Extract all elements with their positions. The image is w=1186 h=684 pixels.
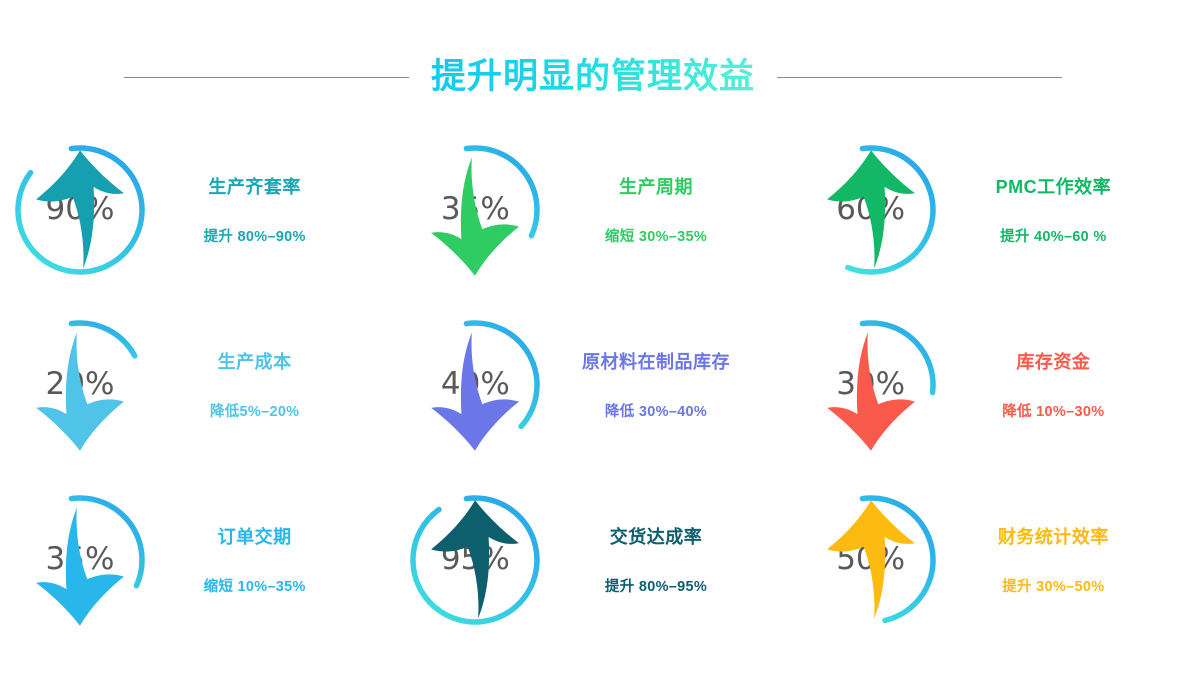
gauge-wrapper: 35%	[0, 492, 160, 628]
metric-label: 生产周期	[619, 173, 693, 199]
title-rule-right	[777, 77, 1062, 78]
gauge-center: 35%	[407, 142, 543, 278]
metric-card: 90%生产齐套率提升 80%–90%	[0, 122, 395, 297]
progress-ring: 95%	[407, 492, 543, 628]
metric-label: 交货达成率	[610, 523, 703, 549]
gauge-center: 35%	[12, 492, 148, 628]
gauge-center: 20%	[12, 317, 148, 453]
metric-text-block: 生产周期缩短 30%–35%	[555, 173, 790, 246]
metric-subtitle: 提升 40%–60 %	[1000, 225, 1106, 246]
metric-subtitle: 缩短 30%–35%	[605, 225, 707, 246]
page-title: 提升明显的管理效益	[429, 54, 757, 101]
progress-ring: 35%	[407, 142, 543, 278]
metric-text-block: 订单交期缩短 10%–35%	[160, 523, 395, 596]
metric-card: 40%原材料在制品库存降低 30%–40%	[395, 297, 790, 472]
gauge-wrapper: 20%	[0, 317, 160, 453]
page-header: 提升明显的管理效益	[0, 48, 1186, 106]
metric-subtitle: 缩短 10%–35%	[204, 575, 306, 596]
metric-text-block: 财务统计效率提升 30%–50%	[951, 523, 1186, 596]
metric-card: 60%PMC工作效率提升 40%–60 %	[791, 122, 1186, 297]
metric-label: 库存资金	[1016, 348, 1090, 374]
metric-subtitle: 降低 30%–40%	[605, 400, 707, 421]
progress-ring: 50%	[803, 492, 939, 628]
gauge-center: 95%	[407, 492, 543, 628]
metric-card: 95%交货达成率提升 80%–95%	[395, 472, 790, 647]
gauge-wrapper: 50%	[791, 492, 951, 628]
metric-label: 生产成本	[218, 348, 292, 374]
metric-card: 20%生产成本降低5%–20%	[0, 297, 395, 472]
metric-label: 订单交期	[218, 523, 292, 549]
gauge-center: 90%	[12, 142, 148, 278]
metric-card: 35%订单交期缩短 10%–35%	[0, 472, 395, 647]
metric-label: 原材料在制品库存	[582, 348, 730, 374]
metric-subtitle: 提升 80%–90%	[204, 225, 306, 246]
metric-subtitle: 提升 80%–95%	[605, 575, 707, 596]
gauge-center: 60%	[803, 142, 939, 278]
metric-text-block: 库存资金降低 10%–30%	[951, 348, 1186, 421]
gauge-center: 40%	[407, 317, 543, 453]
progress-ring: 90%	[12, 142, 148, 278]
metric-card: 35%生产周期缩短 30%–35%	[395, 122, 790, 297]
arrow-up-icon	[12, 145, 148, 281]
gauge-wrapper: 95%	[395, 492, 555, 628]
progress-ring: 20%	[12, 317, 148, 453]
arrow-down-icon	[407, 145, 543, 281]
arrow-down-icon	[803, 320, 939, 456]
arrow-up-icon	[407, 495, 543, 631]
arrow-up-icon	[803, 145, 939, 281]
gauge-center: 50%	[803, 492, 939, 628]
arrow-down-icon	[407, 320, 543, 456]
progress-ring: 60%	[803, 142, 939, 278]
metric-subtitle: 降低5%–20%	[210, 400, 299, 421]
gauge-wrapper: 40%	[395, 317, 555, 453]
title-rule-left	[124, 77, 409, 78]
gauge-wrapper: 35%	[395, 142, 555, 278]
arrow-up-icon	[803, 495, 939, 631]
gauge-wrapper: 90%	[0, 142, 160, 278]
metric-subtitle: 降低 10%–30%	[1002, 400, 1104, 421]
metric-card: 30%库存资金降低 10%–30%	[791, 297, 1186, 472]
arrow-down-icon	[12, 495, 148, 631]
progress-ring: 40%	[407, 317, 543, 453]
gauge-wrapper: 60%	[791, 142, 951, 278]
metric-text-block: 生产成本降低5%–20%	[160, 348, 395, 421]
metric-text-block: 交货达成率提升 80%–95%	[555, 523, 790, 596]
metric-label: 生产齐套率	[208, 173, 301, 199]
arrow-down-icon	[12, 320, 148, 456]
metric-text-block: PMC工作效率提升 40%–60 %	[951, 173, 1186, 246]
metric-text-block: 原材料在制品库存降低 30%–40%	[555, 348, 790, 421]
metric-text-block: 生产齐套率提升 80%–90%	[160, 173, 395, 246]
metric-label: PMC工作效率	[996, 173, 1112, 199]
metric-subtitle: 提升 30%–50%	[1002, 575, 1104, 596]
progress-ring: 30%	[803, 317, 939, 453]
metrics-grid: 90%生产齐套率提升 80%–90%35%生产周期缩短 30%–35%60%PM…	[0, 122, 1186, 647]
progress-ring: 35%	[12, 492, 148, 628]
metric-card: 50%财务统计效率提升 30%–50%	[791, 472, 1186, 647]
gauge-center: 30%	[803, 317, 939, 453]
metric-label: 财务统计效率	[998, 523, 1109, 549]
gauge-wrapper: 30%	[791, 317, 951, 453]
